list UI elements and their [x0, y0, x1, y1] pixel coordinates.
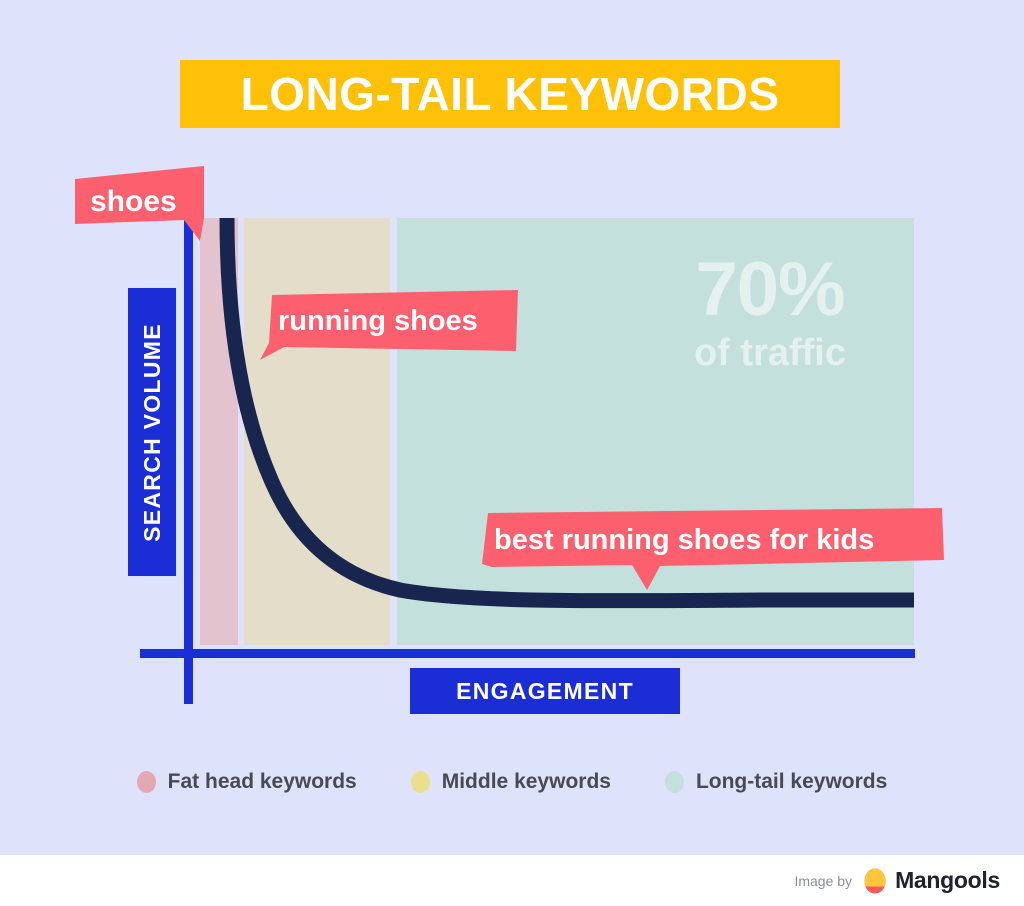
band-fat-head-keywords	[200, 218, 238, 645]
y-axis-line	[184, 210, 193, 704]
traffic-percent-caption: of traffic	[660, 334, 880, 372]
legend-swatch-icon-middle	[411, 771, 430, 793]
band-middle-keywords	[244, 218, 390, 645]
chart-legend: Fat head keywords Middle keywords Long-t…	[0, 770, 1024, 794]
footer-bar: Image by Mangools	[0, 855, 1024, 906]
callout-shoes: shoes	[72, 166, 207, 241]
y-axis-label-box: SEARCH VOLUME	[128, 288, 176, 576]
legend-swatch-icon-fat-head	[137, 771, 156, 793]
mangools-mango-logo-icon	[864, 868, 886, 894]
x-axis-label: ENGAGEMENT	[456, 678, 634, 705]
legend-item-fat-head-keywords: Fat head keywords	[137, 770, 357, 794]
traffic-share-annotation: 70% of traffic	[660, 252, 880, 372]
callout-shoes-label: shoes	[90, 187, 177, 217]
legend-label-long-tail: Long-tail keywords	[696, 770, 887, 794]
legend-label-fat-head: Fat head keywords	[168, 770, 357, 794]
callout-best-running-shoes-for-kids-label: best running shoes for kids	[494, 526, 874, 555]
callout-best-running-shoes-for-kids: best running shoes for kids	[470, 508, 946, 590]
traffic-percent-value: 70%	[660, 252, 880, 328]
legend-item-long-tail-keywords: Long-tail keywords	[665, 770, 887, 794]
y-axis-label: SEARCH VOLUME	[139, 323, 166, 542]
legend-item-middle-keywords: Middle keywords	[411, 770, 611, 794]
callout-running-shoes-label: running shoes	[278, 307, 478, 336]
x-axis-label-box: ENGAGEMENT	[410, 668, 680, 714]
infographic-canvas: LONG-TAIL KEYWORDS SEARCH VOLUME ENGAGEM…	[0, 0, 1024, 906]
x-axis-line	[140, 649, 915, 658]
legend-swatch-icon-long-tail	[665, 771, 684, 793]
legend-label-middle: Middle keywords	[442, 770, 611, 794]
footer-credit-text: Image by	[794, 873, 852, 889]
callout-running-shoes: running shoes	[258, 290, 520, 360]
mangools-wordmark: Mangools	[895, 867, 1000, 894]
